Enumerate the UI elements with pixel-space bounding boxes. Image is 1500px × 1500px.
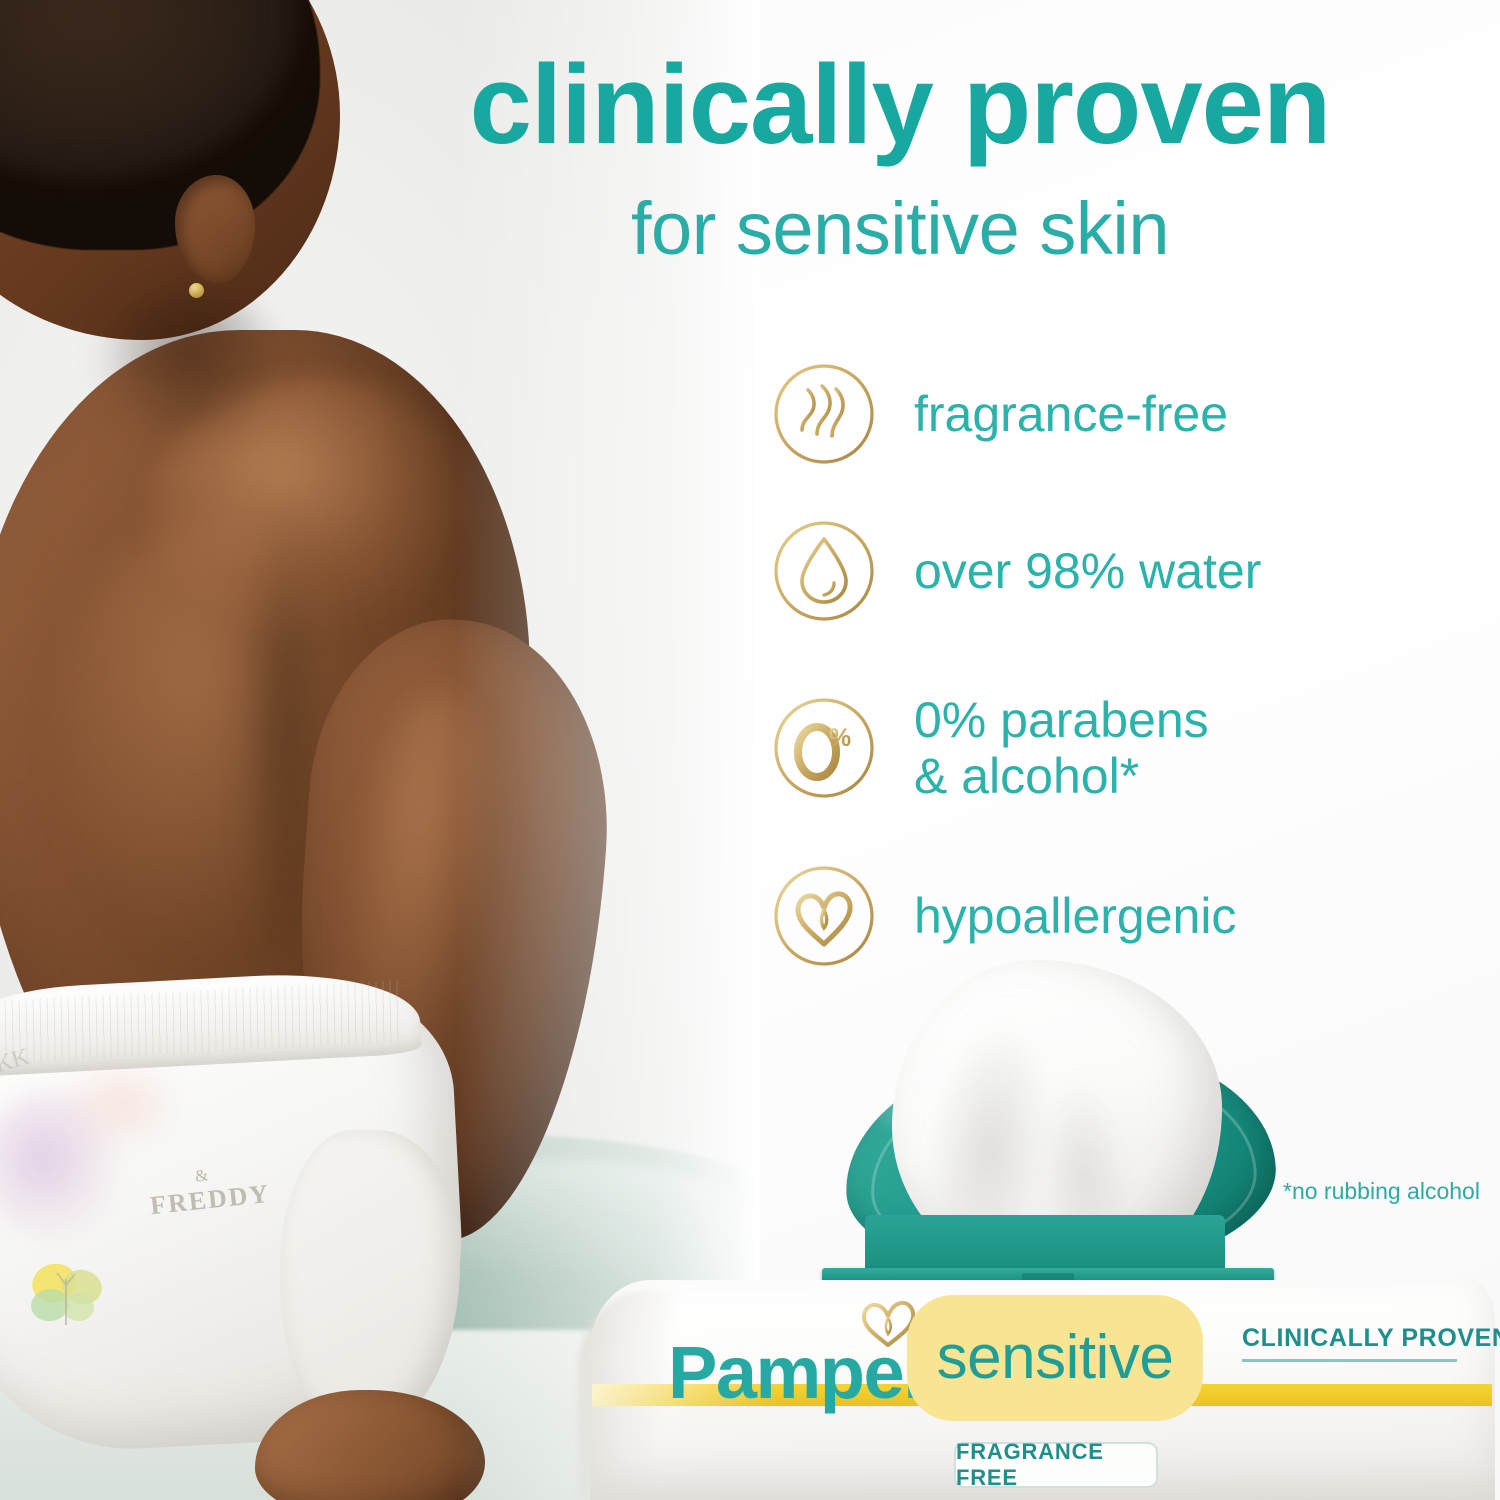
feature-fragrance-free: fragrance-free bbox=[770, 345, 1470, 483]
wipes-package: Pampers sensitive CLINICALLY PROVEN FRAG… bbox=[570, 960, 1500, 1500]
fragrance-free-text: FRAGRANCE FREE bbox=[956, 1439, 1156, 1491]
clinically-proven-claim: CLINICALLY PROVEN bbox=[1242, 1324, 1457, 1362]
zero-percent-icon: % bbox=[770, 694, 878, 802]
feature-over-98-water: over 98% water bbox=[770, 497, 1470, 645]
clinically-proven-text: CLINICALLY PROVEN bbox=[1242, 1324, 1457, 1353]
feature-label: 0% parabens & alcohol* bbox=[914, 692, 1209, 804]
feature-label: fragrance-free bbox=[914, 386, 1228, 442]
feature-label: over 98% water bbox=[914, 543, 1261, 599]
heart-hypoallergenic-icon bbox=[770, 862, 878, 970]
feature-list: fragrance-free over 98% w bbox=[770, 345, 1470, 995]
svg-text:%: % bbox=[829, 724, 851, 752]
clinically-proven-underline bbox=[1242, 1359, 1457, 1362]
fragrance-free-pill: FRAGRANCE FREE bbox=[954, 1442, 1158, 1488]
page-title: clinically proven bbox=[300, 48, 1500, 162]
page-subtitle: for sensitive skin bbox=[300, 190, 1500, 268]
water-droplet-icon bbox=[770, 517, 878, 625]
product-marketing-image: KK & FREDDY clinically proven for sensit… bbox=[0, 0, 1500, 1500]
feature-zero-parabens-alcohol: % 0% parabens & alcohol* bbox=[770, 659, 1470, 837]
badge-label: sensitive bbox=[894, 1322, 1216, 1393]
feature-label: hypoallergenic bbox=[914, 888, 1236, 944]
sensitive-badge: sensitive bbox=[894, 1282, 1216, 1434]
waves-fragrance-icon bbox=[770, 360, 878, 468]
